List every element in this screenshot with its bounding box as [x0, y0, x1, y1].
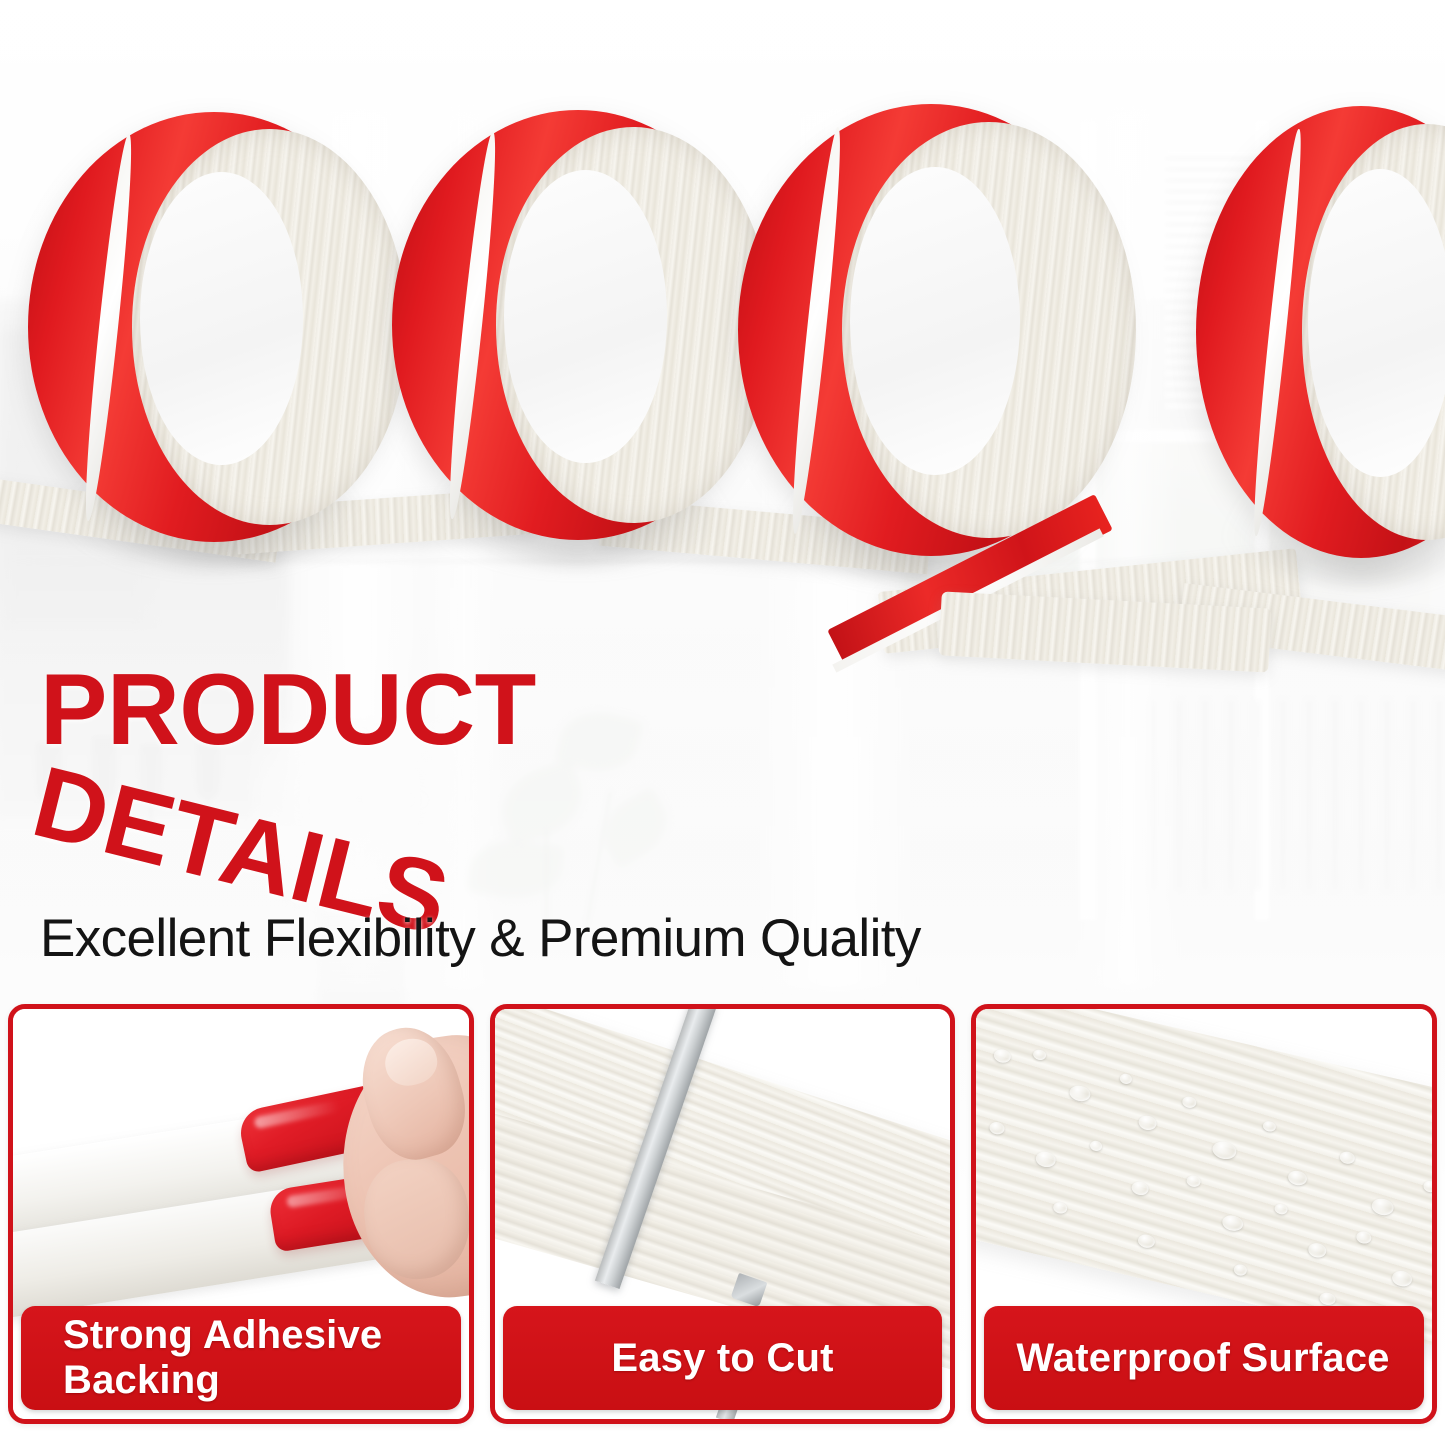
water-droplet [1182, 1095, 1198, 1109]
edge-banding-coil [1196, 106, 1445, 558]
water-droplet [1319, 1291, 1337, 1306]
water-droplet [1032, 1049, 1047, 1062]
water-droplet [1233, 1263, 1248, 1277]
water-droplet [1262, 1120, 1277, 1133]
edge-banding-coil [392, 110, 764, 540]
water-droplet [1356, 1230, 1373, 1245]
product-details-poster: PRODUCT DETAILS Excellent Flexibility & … [0, 0, 1445, 1445]
water-droplet [993, 1048, 1012, 1064]
feature-caption: Strong Adhesive Backing [21, 1306, 461, 1410]
coil-center-hole [1308, 169, 1445, 476]
feature-panel-waterproof[interactable]: Waterproof Surface [971, 1004, 1437, 1424]
feature-panel-row: Strong Adhesive Backing Easy to Cut [8, 1004, 1437, 1424]
water-droplet [1391, 1269, 1414, 1288]
water-droplet [1068, 1084, 1092, 1103]
water-droplet [1371, 1197, 1396, 1218]
coil-center-hole [850, 167, 1020, 474]
edge-banding-coil [28, 112, 400, 542]
water-droplet [989, 1121, 1006, 1136]
coil-center-hole [140, 172, 304, 464]
water-droplet [1131, 1180, 1150, 1196]
water-droplet [1274, 1203, 1289, 1216]
headline-line-1: PRODUCT [40, 654, 536, 766]
hero-product-image [0, 0, 1445, 720]
feature-caption: Easy to Cut [503, 1306, 943, 1410]
water-droplet [1307, 1241, 1328, 1259]
water-droplet [1137, 1233, 1156, 1249]
water-droplet [1423, 1180, 1432, 1194]
feature-caption: Waterproof Surface [984, 1306, 1424, 1410]
water-droplet [1052, 1201, 1068, 1215]
water-droplet [1211, 1139, 1238, 1161]
headline-line-2: DETAILS [34, 751, 124, 828]
water-droplet [1089, 1140, 1103, 1152]
water-droplet [1138, 1114, 1159, 1132]
page-headline: PRODUCT DETAILS [40, 660, 800, 820]
water-droplet [1339, 1150, 1356, 1165]
water-droplet [1186, 1174, 1202, 1188]
page-subheadline: Excellent Flexibility & Premium Quality [40, 908, 921, 969]
water-droplet [1221, 1213, 1245, 1232]
coil-center-hole [504, 170, 668, 462]
water-droplet [1287, 1169, 1309, 1187]
feature-panel-easy-cut[interactable]: Easy to Cut [490, 1004, 956, 1424]
water-droplet [1035, 1150, 1058, 1169]
water-droplet [1119, 1073, 1133, 1085]
feature-panel-adhesive[interactable]: Strong Adhesive Backing [8, 1004, 474, 1424]
edge-banding-coil [738, 104, 1124, 556]
